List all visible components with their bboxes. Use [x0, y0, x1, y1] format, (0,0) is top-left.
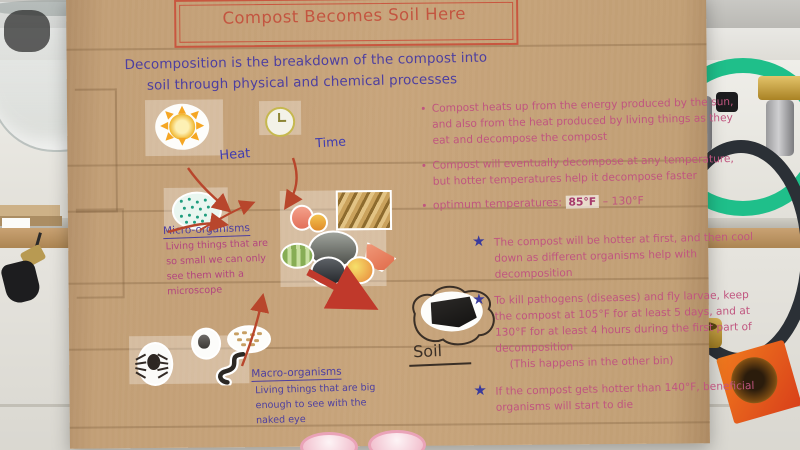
- star-bullet-note: (This happens in the other bin): [496, 351, 764, 373]
- food-scrap-image: [308, 213, 328, 233]
- sun-ray-icon: [178, 106, 186, 114]
- macro-organisms-heading: Macro-organisms: [251, 366, 342, 382]
- brass-fitting: [758, 76, 800, 100]
- photograph-scene: Compost Becomes Soil Here Decomposition …: [0, 0, 800, 450]
- cardboard-poster: Compost Becomes Soil Here Decomposition …: [66, 0, 710, 449]
- star-icon: ★: [472, 234, 486, 249]
- time-label: Time: [315, 134, 346, 151]
- bread-scrap-image: [336, 190, 392, 230]
- star-bullet-text: If the compost gets hotter than 140°F, b…: [495, 380, 754, 414]
- optimum-high-value: 130°F: [611, 194, 644, 208]
- glass-bowl-contents: [4, 10, 50, 52]
- bullet-item: Compost will eventually decompose at any…: [419, 151, 750, 190]
- optimum-dash: –: [603, 195, 609, 208]
- cardboard-flap-edge: [75, 88, 118, 212]
- star-bullet-item: ★ The compost will be hotter at first, a…: [472, 229, 763, 284]
- star-bullet-list: ★ The compost will be hotter at first, a…: [472, 231, 764, 424]
- sun-ray-icon: [196, 122, 204, 130]
- star-bullet-text: The compost will be hotter at first, and…: [494, 231, 753, 281]
- star-icon: ★: [472, 292, 486, 307]
- optimum-low-value: 85°F: [565, 195, 599, 209]
- pill-bug-body: [198, 335, 210, 349]
- heat-label: Heat: [219, 146, 251, 163]
- star-icon: ★: [473, 383, 487, 398]
- bullet-column: Compost heats up from the energy produce…: [419, 97, 750, 216]
- bullet-item: Compost heats up from the energy produce…: [419, 95, 750, 150]
- star-bullet-item: ★ To kill pathogens (diseases) and fly l…: [472, 287, 764, 374]
- apple-image: [344, 256, 374, 284]
- macro-organisms-description: Living things that are big enough to see…: [255, 381, 378, 429]
- clock-icon: [265, 107, 295, 137]
- optimum-temperature-row: optimum temperatures: 85°F – 130°F: [420, 192, 750, 212]
- micro-organisms-description: Living things that are so small we can o…: [165, 237, 277, 300]
- soil-label: Soil: [413, 341, 443, 361]
- optimum-label: optimum temperatures:: [433, 196, 562, 212]
- cucumber-image: [280, 243, 314, 269]
- star-bullet-text: To kill pathogens (diseases) and fly lar…: [494, 289, 752, 355]
- gas-valve-right: [766, 100, 794, 156]
- soil-scrap-image: [310, 256, 346, 286]
- shelf-label: [2, 218, 30, 228]
- worm-photo: [213, 351, 253, 385]
- sun-ray-icon: [178, 138, 186, 146]
- sun-ray-icon: [160, 122, 168, 130]
- cardboard-flap-edge: [76, 208, 125, 298]
- star-bullet-item: ★ If the compost gets hotter than 140°F,…: [473, 377, 764, 416]
